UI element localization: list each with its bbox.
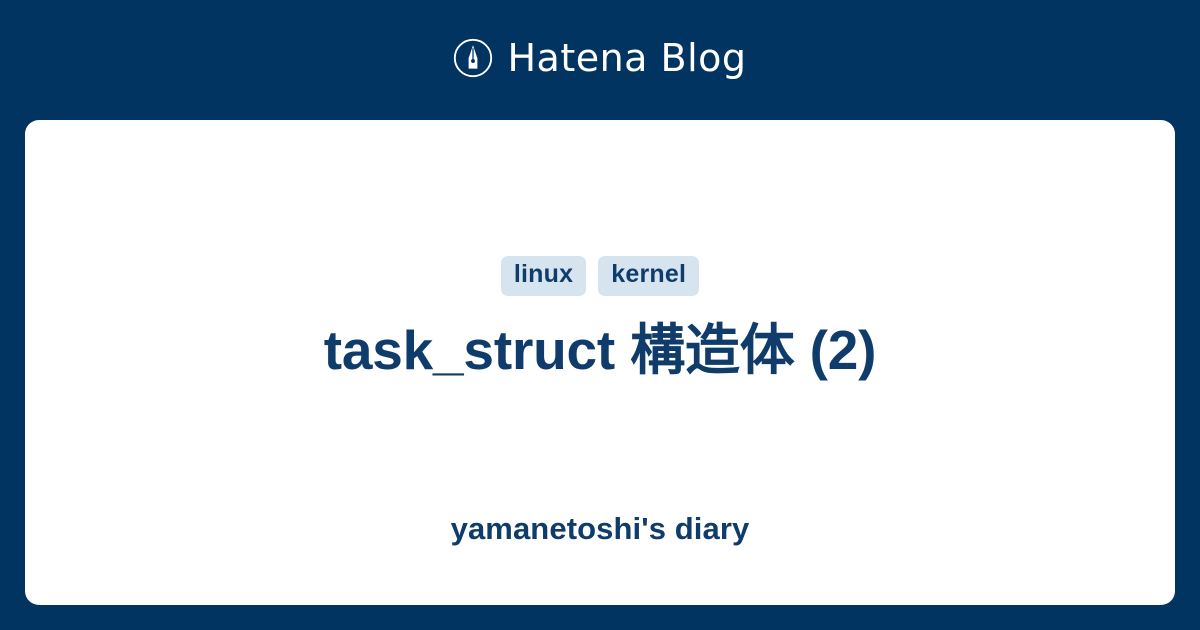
entry-card: linux kernel task_struct 構造体 (2) yamanet… xyxy=(25,120,1175,605)
tag-pill-kernel[interactable]: kernel xyxy=(598,256,699,296)
tag-pill-linux[interactable]: linux xyxy=(501,256,586,296)
pen-nib-circle-icon xyxy=(453,38,493,78)
entry-title: task_struct 構造体 (2) xyxy=(324,318,876,383)
brand-header: Hatena Blog xyxy=(0,0,1200,120)
brand-name: Hatena Blog xyxy=(507,39,746,77)
blog-name: yamanetoshi's diary xyxy=(25,510,1175,547)
og-share-card: Hatena Blog linux kernel task_struct 構造体… xyxy=(0,0,1200,630)
tag-list: linux kernel xyxy=(501,256,699,296)
